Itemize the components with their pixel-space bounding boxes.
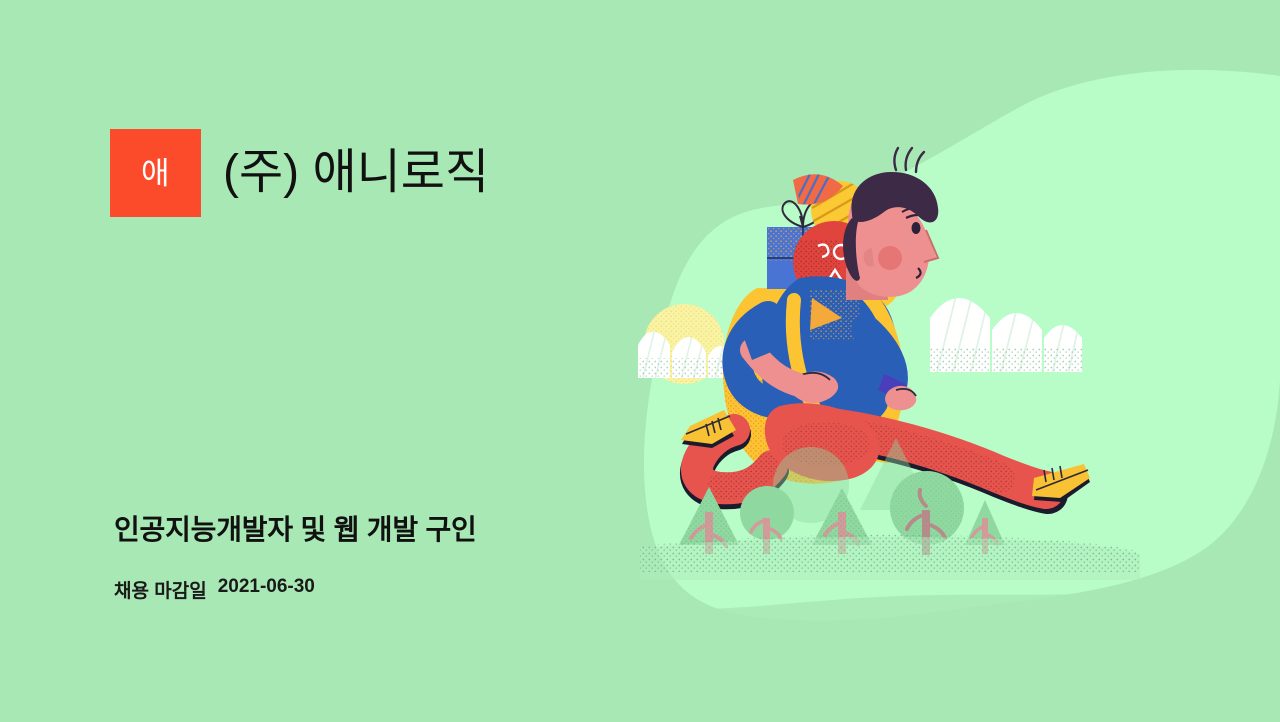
red-patterned-ball xyxy=(790,221,875,310)
ground-speckle xyxy=(640,535,1140,580)
tree-pine-3 xyxy=(812,488,872,554)
sun xyxy=(644,304,724,384)
tree-faded-group xyxy=(773,438,932,523)
tree-pine-5 xyxy=(965,500,1005,554)
white-bushes-right xyxy=(920,280,1096,392)
company-logo-initial: 애 xyxy=(141,158,170,189)
tree-row xyxy=(679,438,1005,555)
deadline-label: 채용 마감일 xyxy=(114,576,207,603)
runner-front-arm xyxy=(866,330,917,412)
tree-round-4 xyxy=(890,471,964,555)
deadline-date: 2021-06-30 xyxy=(218,576,315,603)
gift-sack xyxy=(715,288,893,490)
runner-torso xyxy=(762,276,898,437)
runner-hips xyxy=(765,403,880,481)
company-name: (주) 애니로직 xyxy=(223,148,489,198)
illustration-running-man xyxy=(0,0,1280,722)
runner-neck xyxy=(846,268,888,300)
tree-pine-1 xyxy=(679,487,739,554)
gift-bow xyxy=(782,201,823,227)
job-posting-card: 애 (주) 애니로직 인공지능개발자 및 웹 개발 구인 채용 마감일 2021… xyxy=(0,0,1280,722)
yellow-striped-ball-back xyxy=(836,245,902,311)
runner-hand-back xyxy=(744,330,838,403)
deadline-row: 채용 마감일 2021-06-30 xyxy=(114,576,315,603)
runner-hand-front xyxy=(883,384,917,413)
company-logo: 애 xyxy=(110,129,201,217)
background-fill xyxy=(0,0,1280,722)
runner-back-leg xyxy=(681,410,772,492)
right-shoe xyxy=(1032,464,1090,502)
runner-head xyxy=(843,148,938,297)
company-row: 애 (주) 애니로직 xyxy=(110,129,489,217)
blob-lower-wave xyxy=(626,586,1150,648)
runner-back-arm xyxy=(737,316,804,404)
blue-gift-box xyxy=(767,201,839,289)
sack-strap xyxy=(793,290,897,466)
orange-semicircle xyxy=(793,170,843,208)
job-title: 인공지능개발자 및 웹 개발 구인 xyxy=(114,508,477,548)
white-bushes-left xyxy=(630,316,742,392)
yellow-striped-ball xyxy=(811,181,870,240)
runner-front-leg xyxy=(824,426,1090,502)
background-blob xyxy=(644,70,1280,621)
left-shoe xyxy=(681,410,736,448)
tree-round-2 xyxy=(740,486,794,554)
